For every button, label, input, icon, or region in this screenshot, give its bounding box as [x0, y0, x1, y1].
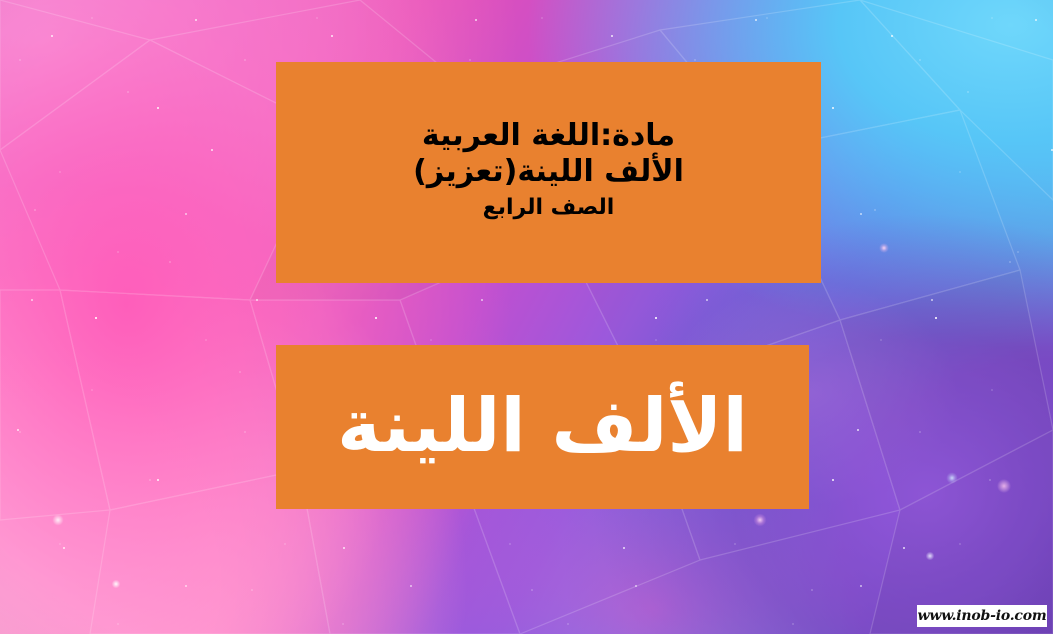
grade-line: الصف الرابع [483, 195, 615, 220]
watermark-badge: www.inob-io.com [917, 605, 1047, 627]
main-title-box: الألف اللينة [276, 345, 809, 509]
main-title-text: الألف اللينة [337, 388, 748, 466]
lesson-title-line: الألف اللينة(تعزيز) [413, 155, 684, 189]
presentation-slide: مادة:اللغة العربية الألف اللينة(تعزيز) ا… [0, 0, 1053, 634]
subject-line: مادة:اللغة العربية [422, 119, 675, 153]
watermark-url: www.inob-io.com [917, 608, 1046, 624]
header-info-box: مادة:اللغة العربية الألف اللينة(تعزيز) ا… [276, 62, 821, 283]
